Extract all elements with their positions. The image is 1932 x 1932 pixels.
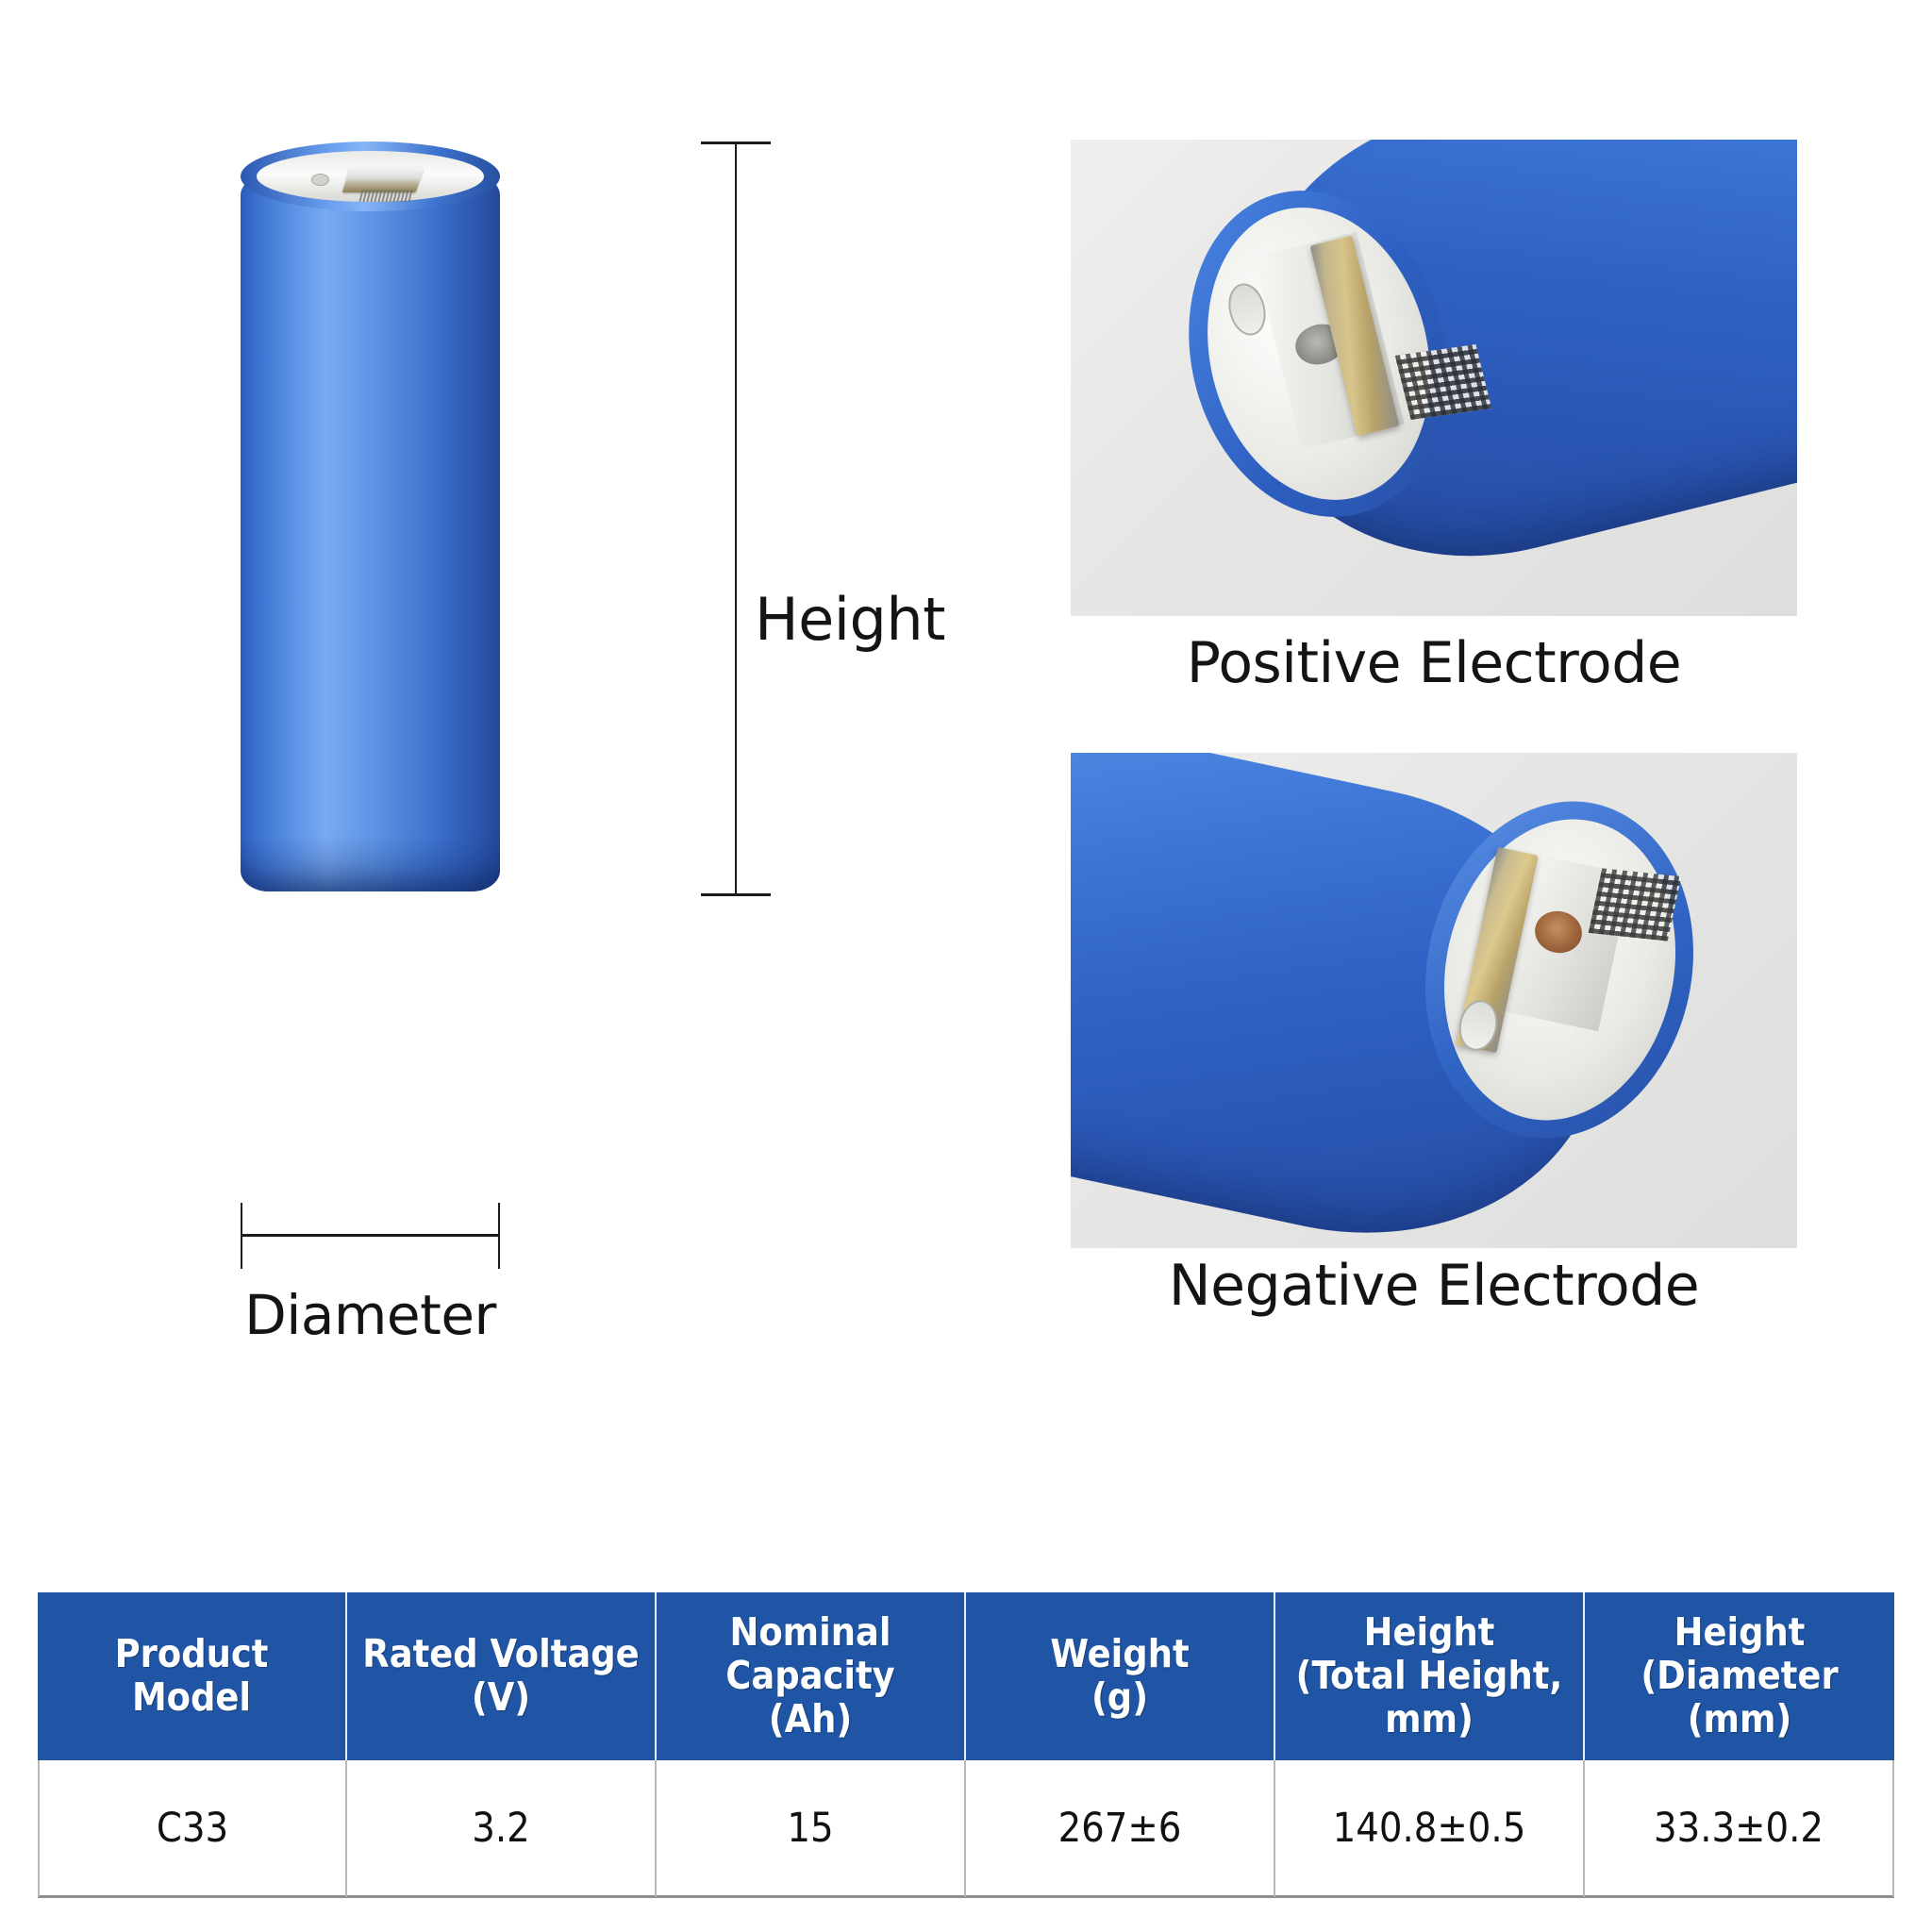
height-cap-bottom — [701, 893, 771, 896]
cell-weight: 267±6 — [966, 1760, 1275, 1898]
header-line-2: Capacity — [660, 1655, 960, 1698]
negative-qr-code-marking — [1589, 868, 1682, 941]
column-header-diameter: Height (Diameter (mm) — [1585, 1592, 1894, 1760]
diameter-cap-right — [498, 1203, 500, 1269]
cell-top-vent-icon — [311, 174, 329, 186]
cell-nominal-capacity: 15 — [657, 1760, 966, 1898]
product-diagram-area: Height Diameter Positive Electrode Negat… — [0, 0, 1932, 1547]
diameter-label: Diameter — [241, 1283, 500, 1347]
cell-top-face — [257, 151, 484, 202]
header-line-2: (V) — [351, 1676, 651, 1720]
cell-product-model: C33 — [38, 1760, 347, 1898]
header-line-1: Height — [1364, 1609, 1495, 1655]
negative-electrode-caption: Negative Electrode — [1071, 1253, 1797, 1319]
cell-top-rim — [241, 142, 500, 211]
cell-diameter: 33.3±0.2 — [1585, 1760, 1894, 1898]
column-header-nominal-capacity: Nominal Capacity (Ah) — [657, 1592, 966, 1760]
diameter-line — [241, 1234, 500, 1237]
header-line-1: Product — [115, 1631, 269, 1676]
column-header-weight: Weight (g) — [966, 1592, 1275, 1760]
cell-bottom-shading — [241, 835, 500, 891]
header-line-1: Nominal — [729, 1609, 891, 1655]
battery-cell-illustration — [241, 142, 500, 896]
table-row: C33 3.2 15 267±6 140.8±0.5 33.3±0.2 — [38, 1760, 1894, 1898]
positive-electrode-photo — [1071, 140, 1797, 616]
header-line-3: (Ah) — [660, 1698, 960, 1741]
height-dimension-line — [693, 142, 778, 896]
cell-rated-voltage: 3.2 — [347, 1760, 657, 1898]
column-header-product-model: Product Model — [38, 1592, 347, 1760]
negative-electrode-photo — [1071, 753, 1797, 1248]
header-line-2: (Total Height, mm) — [1279, 1655, 1579, 1741]
cell-top-code-marking — [358, 190, 412, 202]
cell-total-height: 140.8±0.5 — [1275, 1760, 1585, 1898]
cell-body — [241, 175, 500, 891]
header-line-2: (Diameter (mm) — [1589, 1655, 1890, 1741]
table-header-row: Product Model Rated Voltage (V) Nominal … — [38, 1592, 1894, 1760]
column-header-total-height: Height (Total Height, mm) — [1275, 1592, 1585, 1760]
header-line-2: (g) — [970, 1676, 1270, 1720]
positive-qr-code-marking — [1395, 344, 1492, 420]
diameter-dimension-line — [241, 1203, 500, 1269]
header-line-1: Weight — [1050, 1631, 1189, 1676]
header-line-1: Rated Voltage — [362, 1631, 639, 1676]
height-label: Height — [755, 585, 945, 654]
positive-electrode-caption: Positive Electrode — [1071, 630, 1797, 696]
header-line-1: Height — [1674, 1609, 1806, 1655]
column-header-rated-voltage: Rated Voltage (V) — [347, 1592, 657, 1760]
height-line — [735, 142, 737, 896]
header-line-2: Model — [42, 1676, 341, 1720]
specification-table: Product Model Rated Voltage (V) Nominal … — [38, 1592, 1894, 1898]
